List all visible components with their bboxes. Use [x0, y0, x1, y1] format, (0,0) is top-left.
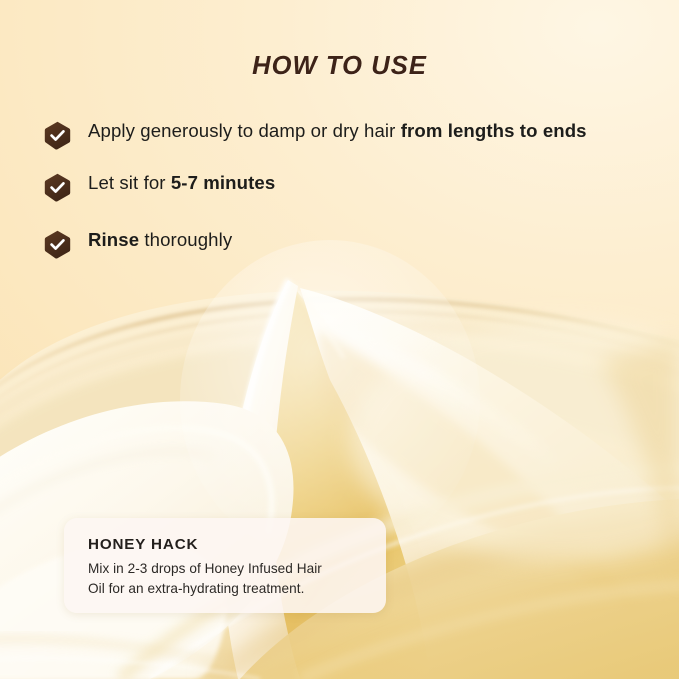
honey-hack-body: Mix in 2-3 drops of Honey Infused Hair O…	[88, 559, 366, 598]
step-text: Rinse thoroughly	[88, 227, 232, 253]
step-text: Apply generously to damp or dry hair fro…	[88, 118, 587, 144]
how-to-use-panel: HOW TO USE Apply generously to damp or d	[0, 0, 679, 679]
how-to-use-step-list: Apply generously to damp or dry hair fro…	[44, 118, 640, 259]
honey-hack-card: HONEY HACK Mix in 2-3 drops of Honey Inf…	[64, 518, 386, 613]
step-text-bold: from lengths to ends	[401, 120, 587, 141]
honey-hack-body-line-2: Oil for an extra-hydrating treatment.	[88, 579, 366, 599]
step-text: Let sit for 5-7 minutes	[88, 170, 275, 196]
hexagon-check-icon	[44, 173, 71, 202]
step-text-normal: Apply generously to damp or dry hair	[88, 120, 401, 141]
page-title: HOW TO USE	[0, 52, 679, 81]
hexagon-check-icon	[44, 230, 71, 259]
honey-hack-title: HONEY HACK	[88, 536, 366, 553]
step-text-bold: Rinse	[88, 229, 139, 250]
step-text-normal: Let sit for	[88, 172, 171, 193]
step-text-bold: 5-7 minutes	[171, 172, 275, 193]
list-item: Apply generously to damp or dry hair fro…	[44, 118, 640, 150]
list-item: Let sit for 5-7 minutes	[44, 170, 640, 202]
honey-hack-body-line-1: Mix in 2-3 drops of Honey Infused Hair	[88, 559, 366, 579]
list-item: Rinse thoroughly	[44, 227, 640, 259]
step-text-normal: thoroughly	[139, 229, 232, 250]
hexagon-check-icon	[44, 121, 71, 150]
